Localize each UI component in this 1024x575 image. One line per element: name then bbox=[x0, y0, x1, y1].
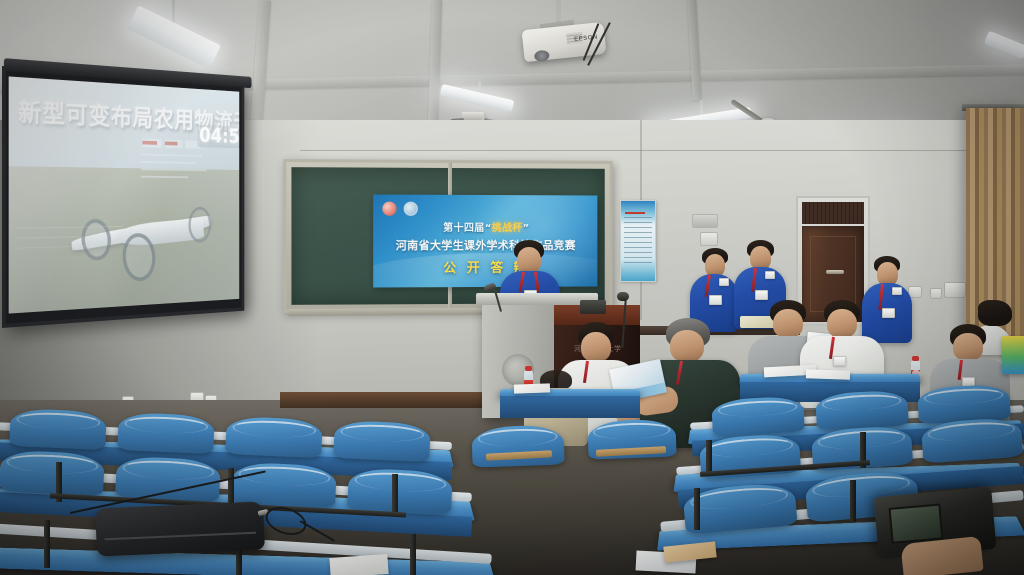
desk-leg bbox=[44, 520, 50, 568]
banner-line-1: 第十四届“挑战杯” bbox=[373, 219, 597, 234]
printed-handout[interactable] bbox=[514, 383, 550, 393]
banner-edition: 第十四届 bbox=[443, 223, 485, 234]
uav-aircraft-icon bbox=[64, 188, 215, 280]
name-badge bbox=[765, 271, 775, 279]
name-badge bbox=[755, 290, 768, 300]
tripod-camera-icon[interactable] bbox=[580, 300, 606, 314]
name-badge bbox=[719, 278, 729, 286]
chair-seat[interactable] bbox=[117, 412, 215, 454]
projection-screen-surface: 新型可变布局农用物流无人机 04:52 bbox=[9, 76, 240, 313]
name-badge bbox=[892, 287, 902, 295]
door-transom-window bbox=[802, 202, 864, 224]
door-handle-icon[interactable] bbox=[826, 270, 844, 274]
wall-control-box[interactable] bbox=[692, 214, 718, 228]
bottle-cap bbox=[912, 356, 919, 361]
name-badge bbox=[833, 356, 846, 366]
chair-seat[interactable] bbox=[9, 408, 107, 450]
hair bbox=[978, 300, 1012, 326]
quote-open: “ bbox=[485, 223, 492, 234]
red-emblem-icon bbox=[382, 202, 396, 216]
chair-seat[interactable] bbox=[333, 420, 431, 462]
audience-2 bbox=[968, 300, 1024, 380]
wall-socket[interactable] bbox=[930, 288, 942, 299]
wall-switch-panel[interactable] bbox=[700, 232, 718, 246]
slide-accent-bar bbox=[142, 141, 157, 145]
classroom-scene-photo: EPSON bbox=[0, 0, 1024, 575]
black-laptop-case[interactable] bbox=[95, 501, 265, 556]
slide-accent-bar bbox=[165, 141, 178, 145]
head bbox=[581, 332, 611, 362]
floor-microphone-icon[interactable] bbox=[617, 292, 629, 301]
presentation-timer: 04:52 bbox=[198, 125, 240, 149]
blue-emblem-icon bbox=[404, 202, 418, 216]
chair-back[interactable] bbox=[471, 424, 564, 467]
projection-screen: 新型可变布局农用物流无人机 04:52 bbox=[2, 66, 244, 328]
quote-close: ” bbox=[523, 223, 530, 234]
wall-seam bbox=[300, 150, 1024, 151]
desk-leg bbox=[410, 534, 416, 575]
poster-heading bbox=[625, 212, 645, 214]
wall-poster bbox=[620, 200, 656, 282]
wall-switch-panel[interactable] bbox=[944, 282, 966, 298]
printed-handout[interactable] bbox=[329, 554, 388, 575]
head bbox=[517, 247, 541, 274]
name-badge bbox=[709, 295, 722, 305]
colorful-handout[interactable] bbox=[1002, 336, 1024, 374]
head bbox=[827, 309, 857, 338]
desk-leg bbox=[850, 480, 856, 522]
banner-event-name: 挑战杯 bbox=[492, 223, 523, 234]
desk-leg bbox=[392, 474, 398, 514]
camcorder-screen bbox=[889, 503, 944, 543]
judge-desk-front bbox=[500, 396, 640, 418]
chair-seat[interactable] bbox=[225, 416, 323, 458]
desk-leg bbox=[694, 488, 700, 530]
head bbox=[773, 309, 803, 338]
head bbox=[670, 330, 704, 362]
bag-zipper bbox=[104, 532, 256, 541]
printed-handout[interactable] bbox=[806, 369, 850, 380]
poster-text-lines bbox=[624, 217, 652, 265]
